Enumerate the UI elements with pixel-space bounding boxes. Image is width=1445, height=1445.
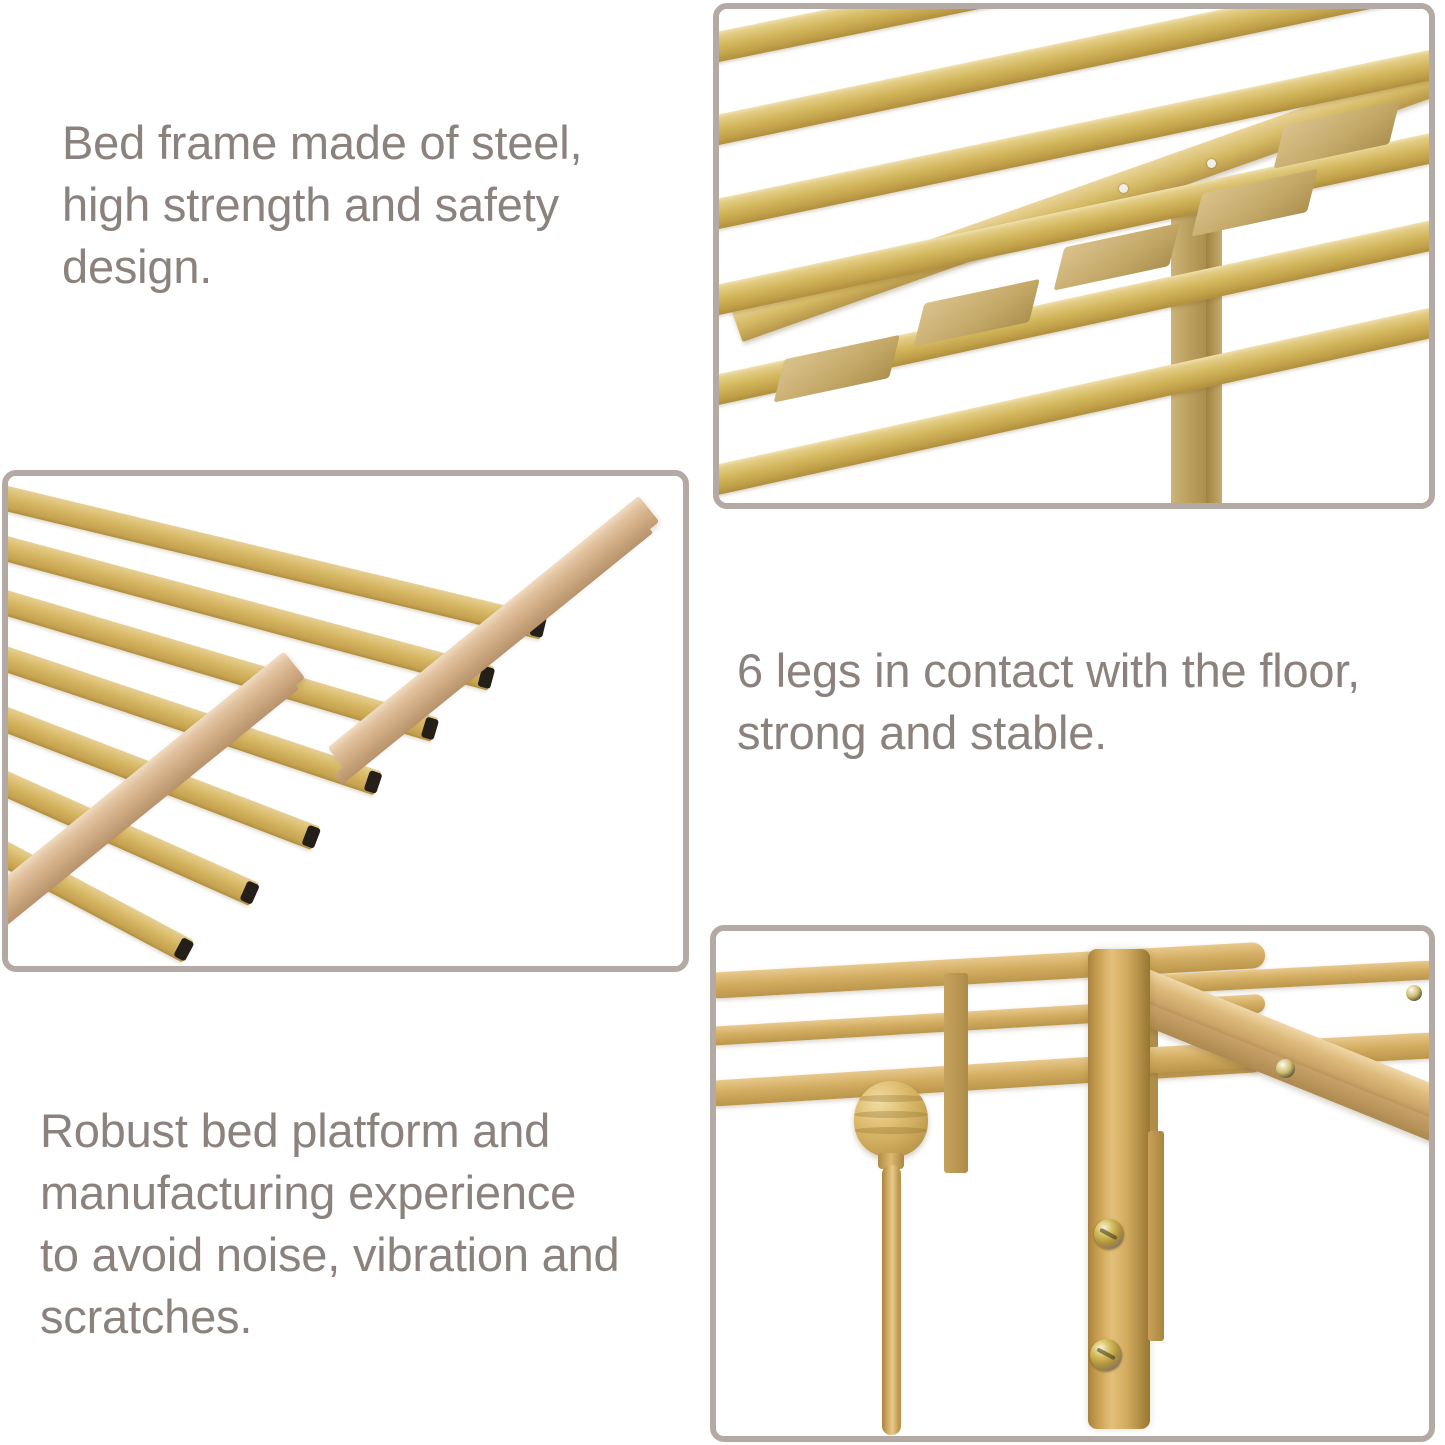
center-support-beam-shadow (1206, 199, 1222, 503)
finial-groove (854, 1111, 928, 1118)
post-screw (1094, 1219, 1124, 1249)
slat-end-cap (364, 770, 383, 794)
ball-finial (854, 1081, 928, 1157)
feature-text-platform: Robust bed platform and manufacturing ex… (40, 1100, 700, 1348)
rail-connector-tab (944, 973, 968, 1173)
bed-slat (719, 302, 1429, 501)
slat-end-cap (421, 717, 439, 741)
rail-nut (1276, 1059, 1295, 1078)
feature-text-legs: 6 legs in contact with the floor, strong… (737, 640, 1437, 764)
corner-scene (8, 476, 683, 966)
screw-highlight (1207, 159, 1216, 168)
photo-panel-leg (710, 925, 1435, 1442)
slat-end-cap (301, 825, 321, 849)
feature-text-steel: Bed frame made of steel, high strength a… (62, 112, 672, 298)
rail-nut (1406, 985, 1422, 1001)
photo-panel-corner (2, 470, 689, 972)
finial-groove (854, 1095, 928, 1102)
finial-groove (854, 1127, 928, 1134)
post-screw (1090, 1339, 1122, 1371)
center-support-beam (1171, 195, 1209, 503)
decorative-rod (882, 1165, 901, 1435)
post-bracket-tab (1148, 1131, 1164, 1341)
slats-scene (719, 9, 1429, 503)
photo-panel-slats (713, 3, 1435, 509)
screw-highlight (1119, 184, 1128, 193)
slat-end-cap (239, 880, 259, 904)
infographic-stage: Bed frame made of steel, high strength a… (0, 0, 1445, 1445)
leg-scene (716, 931, 1429, 1436)
slat-bracket (774, 335, 900, 403)
slat-end-cap (173, 937, 194, 962)
